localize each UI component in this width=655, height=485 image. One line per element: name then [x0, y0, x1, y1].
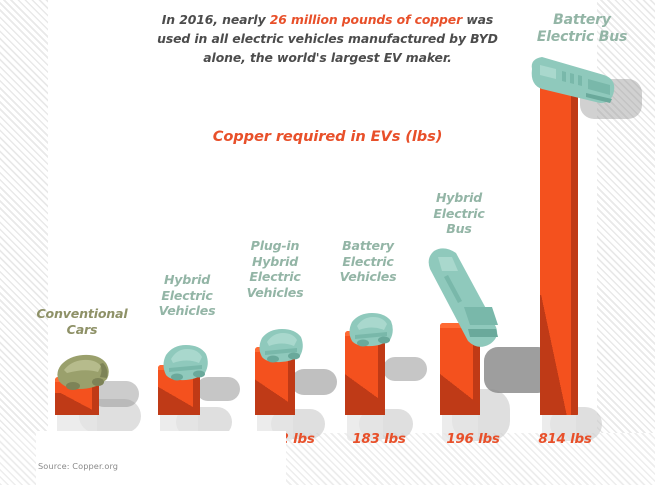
hatch-background-left — [0, 0, 48, 485]
vehicle-illustration-battery-electric-bus — [526, 53, 622, 119]
source-attribution: Source: Copper.org — [38, 461, 118, 471]
category-label-conventional-cars: Conventional Cars — [18, 306, 146, 337]
category-label-line: Electric — [232, 269, 318, 285]
bar-shading — [55, 393, 99, 415]
bar-group-battery-electric-bus — [540, 75, 650, 415]
bus-teal-icon — [526, 53, 622, 119]
category-label-line: Battery — [527, 12, 637, 29]
bar-battery-electric-bus — [540, 83, 578, 415]
vehicle-illustration-hybrid-bus — [418, 245, 514, 357]
bar-shading — [255, 371, 295, 415]
vehicle-illustration-plugin-hybrid-car — [253, 325, 309, 367]
source-backdrop — [36, 431, 286, 485]
value-label-battery-electric-vehicles: 183 lbs — [336, 432, 422, 447]
vehicle-illustration-battery-electric-car — [343, 309, 399, 351]
category-label-plugin-hybrid-electric-vehicles: Plug-in Hybrid Electric Vehicles — [232, 238, 318, 300]
category-label-line: Vehicles — [323, 269, 413, 285]
headline-highlight: 26 million pounds of copper — [270, 12, 462, 27]
car-teal-icon — [156, 341, 214, 385]
category-label-line: Electric Bus — [527, 29, 637, 46]
category-label-line: Battery — [323, 238, 413, 254]
value-label-hybrid-electric-bus: 196 lbs — [430, 432, 516, 447]
category-label-line: Hybrid — [142, 272, 232, 288]
bar-group-battery-electric-vehicles — [345, 323, 415, 415]
bar-shading — [440, 357, 480, 415]
vehicle-illustration-conventional-car — [51, 351, 115, 393]
category-label-line: Vehicles — [142, 303, 232, 319]
bar-group-plugin-hybrid — [255, 339, 325, 415]
headline-text: In 2016, nearly 26 million pounds of cop… — [155, 10, 500, 67]
bar-shading — [158, 385, 200, 415]
headline-pre: In 2016, nearly — [162, 12, 270, 27]
bar-group-conventional-cars — [55, 370, 125, 415]
bar-cast-shadow — [291, 369, 337, 395]
vehicle-illustration-hybrid-car — [156, 341, 214, 385]
category-label-line: Conventional — [18, 306, 146, 322]
bar-group-hybrid-electric-bus — [440, 315, 550, 415]
category-label-battery-electric-vehicles: Battery Electric Vehicles — [323, 238, 413, 285]
infographic-canvas: In 2016, nearly 26 million pounds of cop… — [0, 0, 655, 485]
value-label-battery-electric-bus: 814 lbs — [522, 432, 608, 447]
category-label-hybrid-electric-bus: Hybrid Electric Bus — [418, 190, 500, 237]
bar-group-hybrid-electric-vehicles — [158, 357, 228, 415]
category-label-line: Vehicles — [232, 285, 318, 301]
category-label-line: Plug-in — [232, 238, 318, 254]
category-label-line: Electric — [323, 254, 413, 270]
category-label-line: Hybrid — [418, 190, 500, 206]
category-label-line: Bus — [418, 221, 500, 237]
category-label-line: Hybrid — [232, 254, 318, 270]
category-label-battery-electric-bus: Battery Electric Bus — [527, 12, 637, 46]
bar-cast-shadow — [383, 357, 427, 381]
category-label-line: Electric — [142, 288, 232, 304]
car-teal-icon — [253, 325, 309, 367]
category-label-line: Cars — [18, 322, 146, 338]
car-olive-icon — [51, 351, 115, 393]
bus-teal-icon — [418, 245, 514, 357]
bar-shading — [345, 359, 385, 415]
car-teal-icon — [343, 309, 399, 351]
category-label-hybrid-electric-vehicles: Hybrid Electric Vehicles — [142, 272, 232, 319]
bar-shading — [540, 295, 578, 415]
category-label-line: Electric — [418, 206, 500, 222]
